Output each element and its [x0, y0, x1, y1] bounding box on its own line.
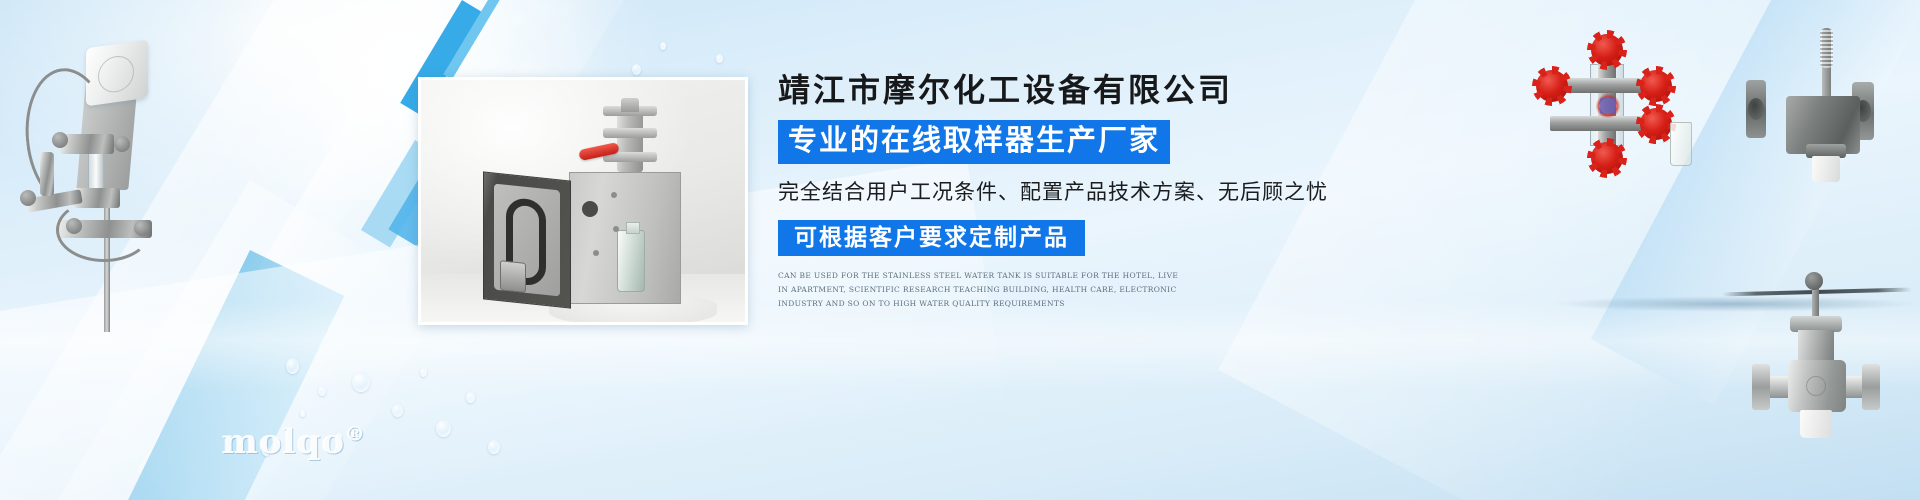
rig-knob-2	[114, 136, 130, 152]
tagline-secondary: 完全结合用户工况条件、配置产品技术方案、无后顾之忧	[778, 180, 1418, 205]
lever-valve-outlet-cup	[1812, 156, 1840, 182]
lever-valve-flange-left	[1746, 80, 1766, 138]
sampler-valve-head	[597, 102, 663, 176]
tagline-custom-products: 可根据客户要求定制产品	[778, 220, 1085, 256]
valve-flange-mid	[603, 128, 657, 138]
promo-banner: 靖江市摩尔化工设备有限公司 专业的在线取样器生产厂家 完全结合用户工况条件、配置…	[0, 0, 1920, 500]
banner-text-block: 靖江市摩尔化工设备有限公司 专业的在线取样器生产厂家 完全结合用户工况条件、配置…	[778, 74, 1418, 311]
watermark-logo: molqo®	[222, 422, 366, 462]
english-description: Can be used for the stainless steel wate…	[778, 269, 1186, 311]
tagline-primary: 专业的在线取样器生产厂家	[778, 120, 1170, 164]
rig-hose-lower	[56, 198, 152, 262]
cabinet-door-latch	[500, 260, 526, 293]
sampler-cabinet-door	[483, 171, 571, 308]
sample-bottle	[617, 230, 645, 292]
gate-valve-flange-left	[1752, 364, 1770, 410]
product-image-sampling-rig	[8, 22, 198, 322]
gate-valve-knob	[1805, 272, 1823, 290]
lever-valve-handle	[1822, 28, 1831, 104]
handwheel-left-upper	[1536, 70, 1568, 102]
valve-stack	[617, 110, 643, 172]
cross-valve-emblem-core	[1600, 98, 1616, 114]
company-name: 靖江市摩尔化工设备有限公司	[778, 74, 1418, 106]
handwheel-right-upper	[1640, 70, 1672, 102]
center-product-photo	[418, 77, 748, 325]
handwheel-top	[1591, 34, 1623, 66]
product-photo-frame	[421, 80, 745, 322]
gate-valve-emblem	[1806, 376, 1826, 396]
cross-valve-sample-bottle	[1670, 122, 1692, 166]
handwheel-right-lower	[1640, 108, 1672, 140]
registered-trademark-symbol: ®	[345, 422, 366, 446]
rig-knob-5	[20, 190, 36, 206]
watermark-text: molqo	[222, 422, 345, 462]
gate-valve-outlet-cup	[1800, 410, 1832, 438]
valve-cap	[621, 98, 639, 112]
product-image-cross-valve	[1528, 40, 1698, 170]
gate-valve-flange-right	[1862, 364, 1880, 410]
handwheel-bottom	[1591, 142, 1623, 174]
rig-relief-valve	[40, 152, 54, 196]
product-image-gate-valve	[1742, 268, 1892, 438]
product-image-lever-valve	[1740, 36, 1900, 196]
